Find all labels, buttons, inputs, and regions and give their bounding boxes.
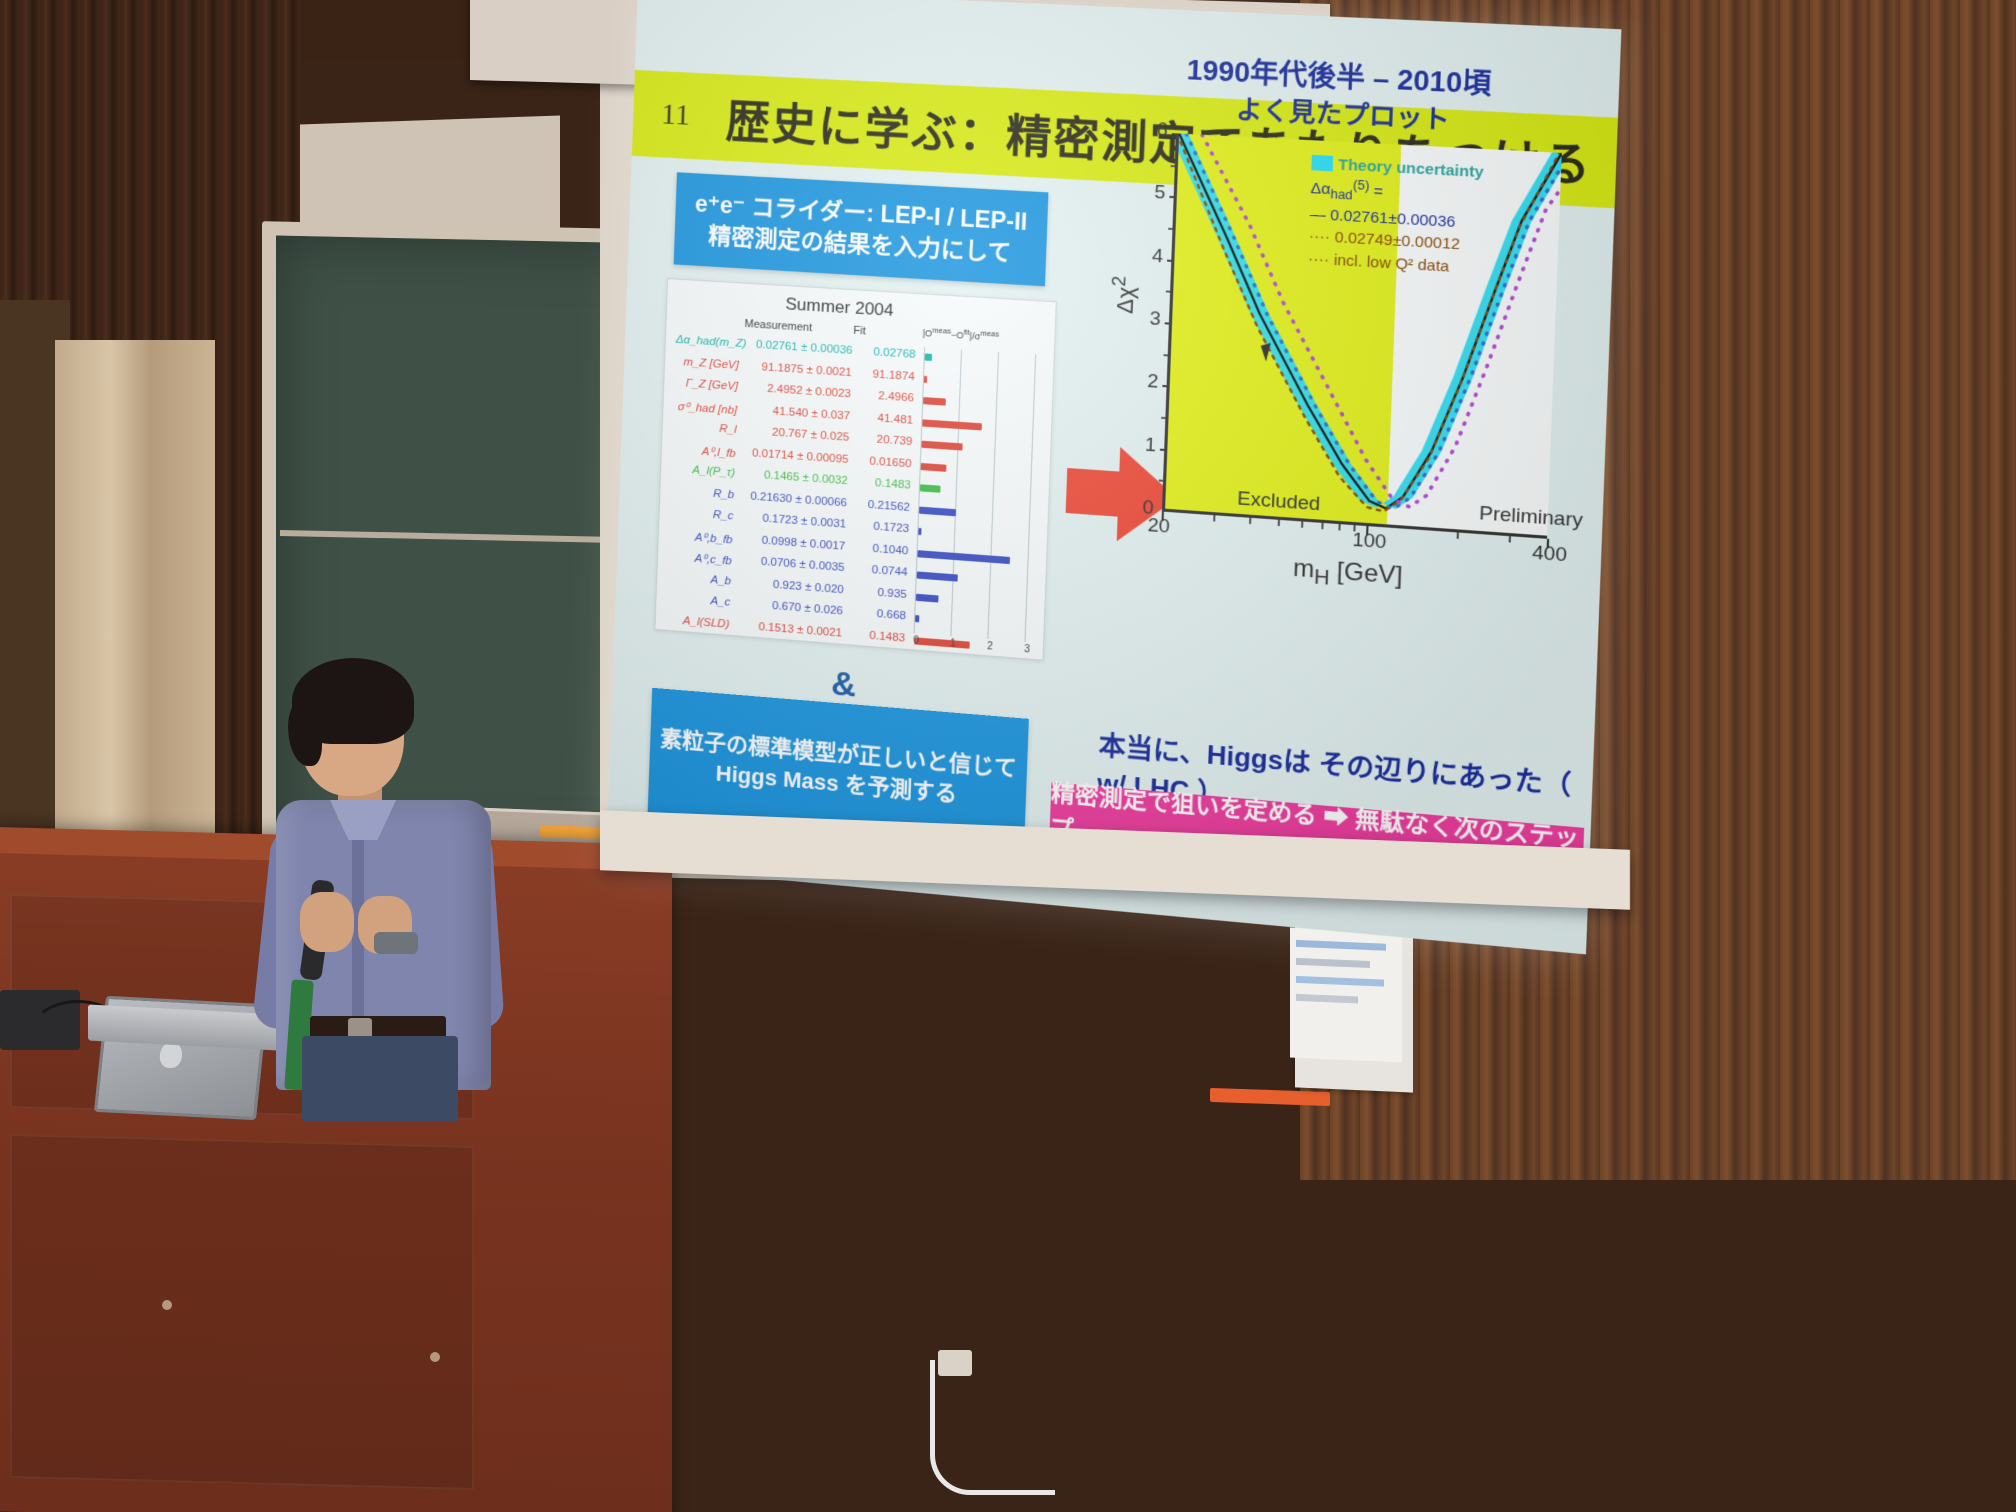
- y-tick-label: 2: [1126, 370, 1158, 395]
- pull-gridline: [987, 352, 999, 639]
- pull-gridline: [950, 350, 962, 637]
- x-tick: [1547, 539, 1550, 549]
- pull-bar: [922, 419, 981, 430]
- y-tick-label: 1: [1124, 433, 1156, 458]
- pull-bar: [917, 571, 958, 581]
- x-tick: [1321, 523, 1323, 529]
- x-tick: [1366, 526, 1368, 535]
- table-title: Summer 2004: [785, 294, 894, 321]
- y-tick-label: 3: [1129, 307, 1161, 331]
- x-tick: [1353, 525, 1355, 531]
- chart-x-axis-title: mH [GeV]: [1292, 554, 1403, 596]
- row-fit: 0.21562: [855, 497, 910, 513]
- pull-tick-label: 0: [913, 635, 919, 647]
- presenter-left-hand: [300, 892, 354, 952]
- x-tick: [1213, 515, 1215, 521]
- x-tick: [1162, 512, 1164, 521]
- lep-measurement-table: Summer 2004 Measurement Fit |Omeas−Ofit|…: [654, 278, 1057, 661]
- row-fit: 0.2314: [849, 649, 904, 660]
- pull-bar: [921, 441, 962, 451]
- pull-bar: [913, 659, 943, 661]
- row-fit: 2.4966: [859, 389, 914, 405]
- row-measurement: 0.02761 ± 0.00036: [748, 338, 853, 357]
- pull-bar: [918, 528, 921, 535]
- podium-panel-lower: [10, 1134, 474, 1490]
- row-fit: 0.01650: [856, 454, 911, 470]
- row-fit: 20.739: [857, 432, 912, 448]
- y-tick-label: 4: [1131, 244, 1163, 268]
- row-fit: 0.1483: [856, 476, 911, 492]
- pull-bar: [923, 397, 945, 406]
- pull-bar: [919, 506, 956, 516]
- x-tick: [1456, 532, 1458, 538]
- y-tick-label: 6: [1136, 118, 1168, 142]
- wall-notice-sheet: [1290, 928, 1402, 1063]
- pull-bar: [921, 462, 947, 471]
- row-label: A⁰,l_fb: [672, 441, 736, 459]
- x-tick: [1338, 524, 1340, 530]
- table-header-fit: Fit: [853, 325, 866, 338]
- window-curtain: [55, 340, 215, 860]
- pull-bar: [915, 615, 919, 622]
- power-cable: [930, 1360, 1055, 1495]
- pull-tick-label: 3: [1024, 644, 1030, 656]
- x-tick-label: 20: [1147, 515, 1170, 539]
- x-tick: [1278, 520, 1280, 526]
- row-fit: 41.481: [858, 411, 913, 427]
- row-fit: 0.1723: [854, 519, 909, 535]
- pull-tick-label: 2: [987, 641, 993, 653]
- pull-bar: [917, 550, 1010, 564]
- table-row: m_W [GeV]80.425 ± 0.03480.394: [654, 655, 1041, 660]
- x-tick: [1249, 518, 1251, 524]
- wristwatch: [374, 932, 418, 954]
- lecture-hall-scene: 11 歴史に学ぶ：精密測定であたりをつける e⁺e⁻ コライダー: LEP-I …: [0, 0, 2016, 1512]
- row-fit: 0.02768: [860, 345, 915, 361]
- chalk-eraser-right: [1210, 1088, 1330, 1106]
- table-header-pull: |Omeas−Ofit|/σmeas: [922, 325, 999, 343]
- row-fit: 91.1874: [860, 367, 915, 383]
- podium-screw: [162, 1300, 172, 1310]
- x-tick-label: 400: [1532, 542, 1568, 568]
- x-tick-label: 100: [1352, 529, 1387, 554]
- blue-box-collider: e⁺e⁻ コライダー: LEP-I / LEP-II 精密測定の結果を入力にして: [674, 172, 1049, 286]
- delta-chisq-chart: Δχ2 1234560 Theory uncertainty Δαhad(5) …: [1095, 122, 1581, 587]
- slide-number: 11: [661, 97, 691, 133]
- table-header-measurement: Measurement: [744, 318, 812, 334]
- legend-swatch-theory: [1311, 155, 1333, 172]
- pull-tick-label: 1: [950, 638, 956, 650]
- pull-bar: [916, 593, 938, 602]
- pull-bar: [920, 484, 941, 493]
- row-label: Δα_had(m_Z): [676, 334, 740, 350]
- x-tick: [1509, 536, 1511, 542]
- x-tick: [1301, 521, 1303, 527]
- presenter-trousers: [302, 1036, 458, 1122]
- pull-bar: [924, 375, 927, 382]
- podium-screw: [430, 1352, 440, 1362]
- chart-plot-area: Theory uncertainty Δαhad(5) = — 0.02761±…: [1162, 133, 1562, 538]
- pull-bar-area: [914, 347, 1044, 642]
- row-label: σ⁰_had [nb]: [673, 398, 737, 416]
- projected-slide: 11 歴史に学ぶ：精密測定であたりをつける e⁺e⁻ コライダー: LEP-I …: [606, 0, 1621, 954]
- row-measurement: 0.2324 ± 0.0012: [736, 640, 841, 660]
- pull-bar: [925, 353, 933, 361]
- chart-legend: Theory uncertainty Δαhad(5) = — 0.02761±…: [1308, 153, 1484, 280]
- row-label: sin²θ^lept_eff(Q_fb): [665, 635, 729, 652]
- ampersand-symbol: &: [830, 664, 856, 705]
- row-label: m_W [GeV]: [664, 656, 728, 661]
- y-tick-label: 5: [1134, 181, 1166, 205]
